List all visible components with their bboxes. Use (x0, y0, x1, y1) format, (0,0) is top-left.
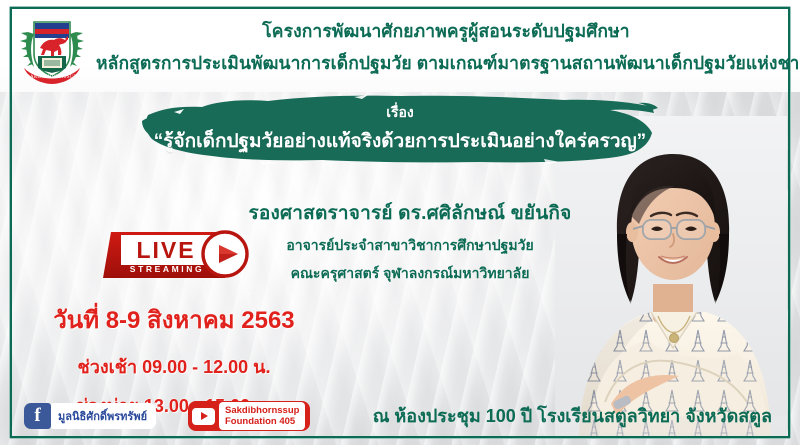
poster-root: SAKDIBHORNSSUP โครงการพัฒนาศักยภาพครูผู้… (0, 0, 800, 445)
topic-title: “รู้จักเด็กปฐมวัยอย่างแท้จริงด้วยการประเ… (154, 126, 646, 156)
youtube-badge[interactable]: Sakdibhornssup Foundation 405 (188, 401, 310, 431)
page-title-line1: โครงการพัฒนาศักยภาพครูผู้สอนระดับปฐมศึกษ… (96, 17, 796, 45)
youtube-channel-line1: Sakdibhornssup (225, 405, 299, 416)
page-title-line2: หลักสูตรการประเมินพัฒนาการเด็กปฐมวัย ตาม… (96, 49, 796, 77)
live-label: LIVE (123, 237, 209, 263)
svg-text:SAKDIBHORNSSUP: SAKDIBHORNSSUP (27, 75, 77, 80)
speaker-role: อาจารย์ประจำสาขาวิชาการศึกษาปฐมวัย (245, 235, 575, 257)
youtube-icon[interactable] (192, 408, 215, 425)
topic-label: เรื่อง (386, 102, 414, 124)
school-emblem-horse-logo: SAKDIBHORNSSUP (16, 10, 88, 84)
youtube-channel-line2: Foundation 405 (225, 416, 299, 427)
speaker-info: รองศาสตราจารย์ ดร.ศศิลักษณ์ ขยันกิจ อาจา… (245, 198, 575, 285)
facebook-icon[interactable]: f (24, 403, 51, 429)
footer-bar: f มูลนิธิศักดิ์พรทรัพย์ Sakdibhornssup F… (0, 393, 800, 439)
speaker-name: รองศาสตราจารย์ ดร.ศศิลักษณ์ ขยันกิจ (245, 198, 575, 228)
live-streaming-badge[interactable]: LIVE STREAMING (97, 228, 257, 284)
youtube-channel-name: Sakdibhornssup Foundation 405 (219, 402, 305, 430)
venue-text: ณ ห้องประชุม 100 ปี โรงเรียนสตูลวิทยา จั… (373, 401, 772, 431)
speaker-organization: คณะครุศาสตร์ จุฬาลงกรณ์มหาวิทยาลัย (245, 263, 575, 285)
header-white-band (0, 0, 800, 92)
streaming-label: STREAMING (119, 265, 215, 274)
topic-banner-text: เรื่อง “รู้จักเด็กปฐมวัยอย่างแท้จริงด้วย… (140, 93, 660, 165)
morning-session-time: ช่วงเช้า 09.00 - 12.00 น. (18, 352, 330, 381)
facebook-badge[interactable]: f มูลนิธิศักดิ์พรทรัพย์ (24, 403, 156, 429)
facebook-page-name: มูลนิธิศักดิ์พรทรัพย์ (51, 403, 156, 429)
topic-banner: เรื่อง “รู้จักเด็กปฐมวัยอย่างแท้จริงด้วย… (140, 93, 660, 165)
event-date: วันที่ 8-9 สิงหาคม 2563 (18, 300, 330, 339)
